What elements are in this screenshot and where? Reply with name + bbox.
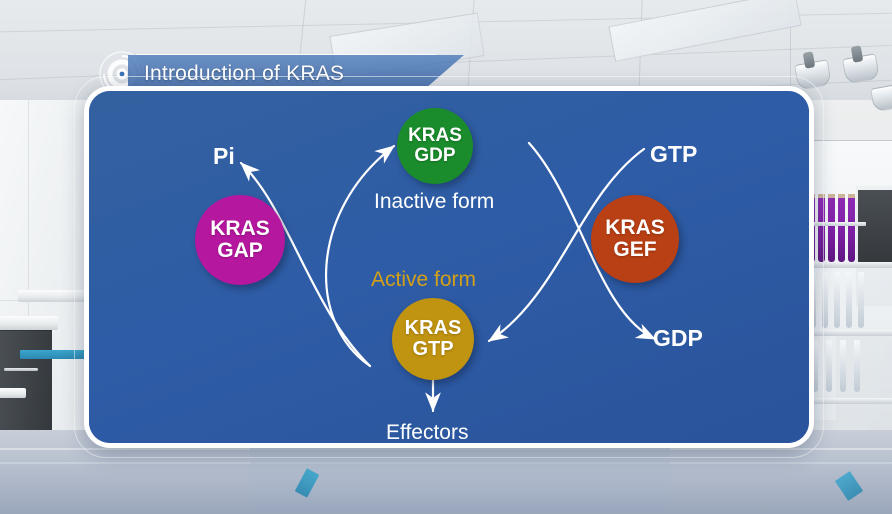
pipette xyxy=(834,272,840,328)
countertop xyxy=(0,388,26,398)
pipette xyxy=(854,340,860,392)
pipette xyxy=(846,272,852,328)
node-kras-gtp-line1: KRAS xyxy=(405,318,462,339)
page-title: Introduction of KRAS xyxy=(128,62,344,86)
label-pi: Pi xyxy=(213,143,235,170)
label-gtp: GTP xyxy=(650,141,697,168)
countertop xyxy=(0,316,58,330)
test-tube-cap xyxy=(838,194,845,198)
pipette xyxy=(840,340,846,392)
pipette xyxy=(858,272,864,328)
shelf xyxy=(806,398,892,404)
test-tube xyxy=(818,198,825,262)
node-kras-gdp-line2: GDP xyxy=(414,146,455,166)
node-kras-gap-line1: KRAS xyxy=(210,218,270,240)
node-kras-gef-line2: GEF xyxy=(613,239,656,261)
slide: Introduction of KRAS xyxy=(0,0,892,514)
label-active-form: Active form xyxy=(371,268,476,292)
test-tube xyxy=(828,198,835,262)
label-effectors: Effectors xyxy=(386,421,468,443)
diagram-panel: KRAS GDP KRAS GAP KRAS GEF KRAS GTP Pi G… xyxy=(84,86,814,448)
node-kras-gtp-line2: GTP xyxy=(412,339,453,360)
node-kras-gtp[interactable]: KRAS GTP xyxy=(392,298,474,380)
shelf-back xyxy=(858,190,892,262)
cabinet-handle xyxy=(4,368,38,371)
label-gdp: GDP xyxy=(653,325,703,352)
node-kras-gdp-line1: KRAS xyxy=(408,126,462,146)
node-kras-gef-line1: KRAS xyxy=(605,217,665,239)
shelf xyxy=(806,262,892,268)
shelf xyxy=(806,330,892,336)
node-kras-gap-line2: GAP xyxy=(217,240,263,262)
pipette xyxy=(822,272,828,328)
test-tube xyxy=(838,198,845,262)
node-kras-gef[interactable]: KRAS GEF xyxy=(591,195,679,283)
label-inactive-form: Inactive form xyxy=(374,190,494,214)
node-kras-gap[interactable]: KRAS GAP xyxy=(195,195,285,285)
node-kras-gdp[interactable]: KRAS GDP xyxy=(397,108,473,184)
test-tube-cap xyxy=(828,194,835,198)
counter-edge-trim xyxy=(20,350,92,359)
test-tube-cap xyxy=(848,194,855,198)
title-top-rule xyxy=(136,54,436,55)
pipette xyxy=(826,340,832,392)
test-tube xyxy=(848,198,855,262)
test-tube-cap xyxy=(818,194,825,198)
